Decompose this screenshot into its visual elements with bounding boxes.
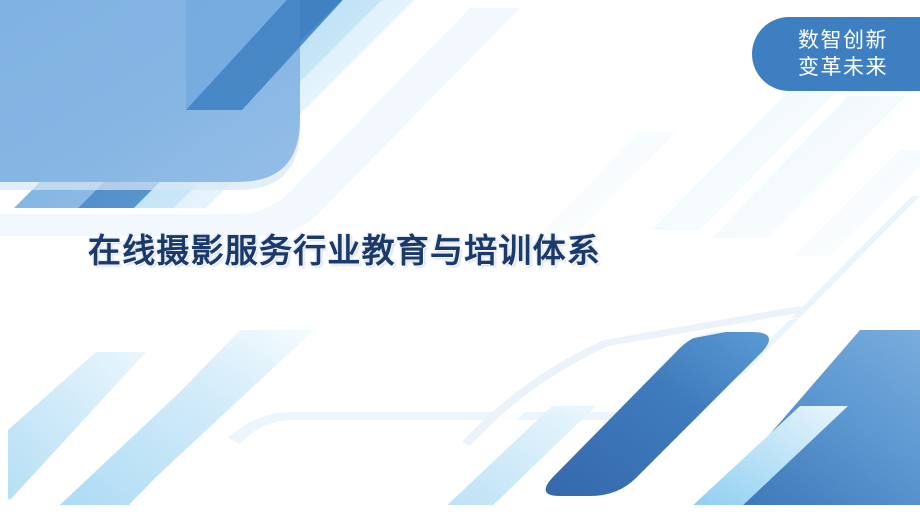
page-title: 在线摄影服务行业教育与培训体系 bbox=[88, 228, 601, 274]
slide-canvas: 数智创新 变革未来 在线摄影服务行业教育与培训体系 bbox=[0, 0, 920, 518]
tagline-badge: 数智创新 变革未来 bbox=[752, 17, 920, 91]
title-block: 在线摄影服务行业教育与培训体系 bbox=[88, 228, 601, 274]
tagline-line-2: 变革未来 bbox=[798, 54, 888, 81]
tagline-line-1: 数智创新 bbox=[798, 27, 888, 54]
